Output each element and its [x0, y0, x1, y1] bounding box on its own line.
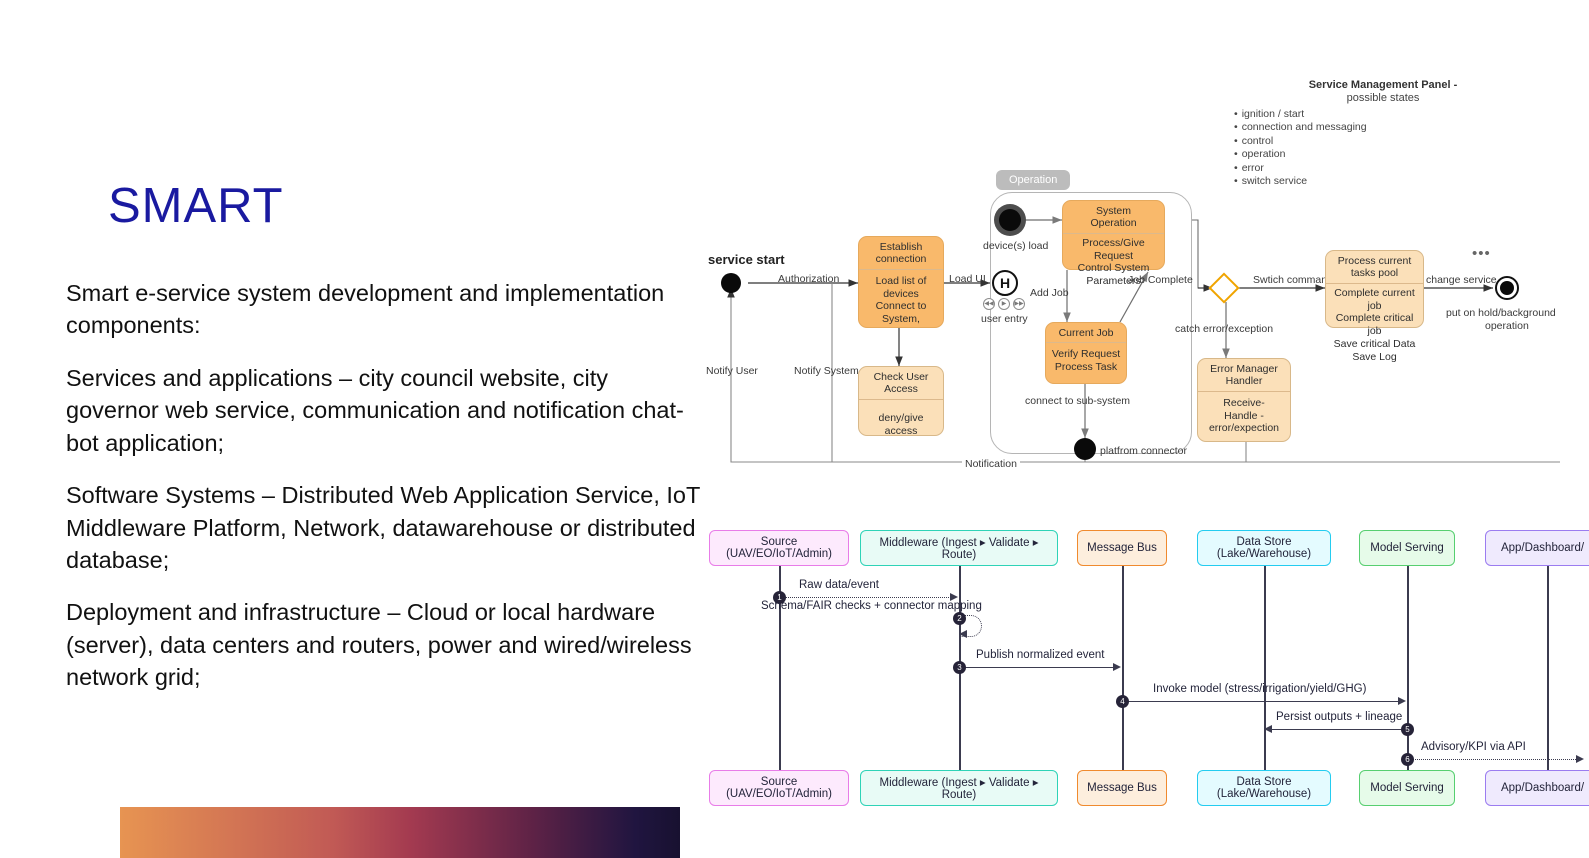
message-label-3: Publish normalized event: [976, 649, 1105, 661]
edge-label-notification: Notification: [962, 458, 1020, 470]
actor-model-serving-top[interactable]: Model Serving: [1359, 530, 1455, 566]
state-establish-body: Load list of devices Connect to System,: [859, 270, 943, 331]
edge-label-load-ui: Load UI: [949, 273, 986, 285]
edge-label-change-service: change service: [1426, 274, 1497, 286]
final-state-caption-1: put on hold/background: [1446, 307, 1556, 319]
message-label-1: Raw data/event: [799, 579, 879, 591]
composite-state-label: Operation: [996, 170, 1070, 190]
sequence-diagram: Source (UAV/EO/IoT/Admin) Middleware (In…: [700, 515, 1589, 835]
accent-gradient-bar: [120, 807, 680, 858]
state-diagram: Service Management Panel - possible stat…: [700, 70, 1589, 480]
state-pool-header: Process current tasks pool: [1326, 251, 1423, 283]
state-sysop-header: System Operation: [1063, 201, 1164, 233]
message-arrow-6: [1576, 755, 1584, 763]
message-line-4: [1122, 701, 1399, 702]
state-error-header: Error Manager Handler: [1198, 359, 1290, 391]
message-line-1: [779, 597, 951, 598]
actor-data-store-bottom[interactable]: Data Store (Lake/Warehouse): [1197, 770, 1331, 806]
lifeline-middleware: [959, 565, 961, 789]
service-start-label: service start: [708, 252, 785, 267]
initial-state-node: [721, 273, 741, 293]
history-pseudostate: H: [992, 270, 1018, 296]
edge-label-switch-command: Swtich command: [1253, 274, 1333, 286]
platform-connector-node: [1074, 438, 1096, 460]
message-line-5: [1264, 729, 1407, 730]
actor-middleware-top[interactable]: Middleware (Ingest ▸ Validate ▸ Route): [860, 530, 1058, 566]
message-arrow-4: [1398, 697, 1406, 705]
actor-model-serving-bottom[interactable]: Model Serving: [1359, 770, 1455, 806]
rewind-icon: ◀◀: [983, 298, 995, 310]
state-job-header: Current Job: [1046, 323, 1126, 342]
state-job-body: Verify Request Process Task: [1046, 343, 1126, 379]
actor-message-bus-bottom[interactable]: Message Bus: [1077, 770, 1167, 806]
state-pool-body: Complete current job Complete critical j…: [1326, 284, 1423, 367]
body-copy: Smart e-service system development and i…: [66, 277, 706, 714]
final-state-inner: [1500, 281, 1514, 295]
message-line-3: [959, 667, 1114, 668]
message-line-6: [1407, 759, 1582, 760]
message-number-6: 6: [1401, 753, 1414, 766]
state-check-header: Check User Access: [859, 367, 943, 399]
state-error-body: Receive- Handle - error/expection: [1198, 392, 1290, 440]
final-state-caption-2: operation: [1485, 320, 1529, 332]
state-check-user-access: Check User Access deny/give access: [858, 366, 944, 436]
state-process-tasks-pool: Process current tasks pool Complete curr…: [1325, 250, 1424, 328]
message-arrow-2: [959, 630, 967, 638]
edge-label-job-complete: Job Complete: [1128, 274, 1193, 286]
paragraph-4: Deployment and infrastructure – Cloud or…: [66, 596, 706, 693]
message-label-2: Schema/FAIR checks + connector mapping: [761, 600, 982, 612]
lifeline-app-dashboard: [1547, 565, 1549, 789]
state-system-operation: System Operation Process/Give Request Co…: [1062, 200, 1165, 270]
message-number-5: 5: [1401, 723, 1414, 736]
actor-middleware-bottom[interactable]: Middleware (Ingest ▸ Validate ▸ Route): [860, 770, 1058, 806]
message-number-3: 3: [953, 661, 966, 674]
message-number-2: 2: [953, 612, 966, 625]
actor-data-store-top[interactable]: Data Store (Lake/Warehouse): [1197, 530, 1331, 566]
edge-label-authorization: Authorization: [778, 273, 839, 285]
page-title: SMART: [108, 182, 284, 231]
edge-label-platform-connector: platfrom connector: [1100, 445, 1187, 457]
actor-app-dashboard-top[interactable]: App/Dashboard/: [1485, 530, 1589, 566]
message-arrow-5: [1264, 725, 1272, 733]
play-icon: ▶: [998, 298, 1010, 310]
edge-label-add-job: Add Job: [1030, 287, 1069, 299]
ellipsis-icon: •••: [1472, 245, 1491, 262]
paragraph-2: Services and applications – city council…: [66, 362, 706, 459]
message-label-4: Invoke model (stress/irrigation/yield/GH…: [1153, 683, 1366, 695]
actor-app-dashboard-bottom[interactable]: App/Dashboard/: [1485, 770, 1589, 806]
actor-source-top[interactable]: Source (UAV/EO/IoT/Admin): [709, 530, 849, 566]
final-state-node: [1495, 276, 1519, 300]
edge-label-connect-sub-system: connect to sub-system: [1025, 395, 1130, 407]
message-label-5: Persist outputs + lineage: [1276, 711, 1402, 723]
state-establish-connection: Establish connection Load list of device…: [858, 236, 944, 328]
paragraph-1: Smart e-service system development and i…: [66, 277, 706, 342]
message-label-6: Advisory/KPI via API: [1421, 741, 1526, 753]
message-number-4: 4: [1116, 695, 1129, 708]
edge-label-notify-system: Notify System: [794, 365, 859, 377]
edge-label-catch-error: catch error/exception: [1175, 323, 1273, 335]
state-error-manager-handler: Error Manager Handler Receive- Handle - …: [1197, 358, 1291, 442]
actor-source-bottom[interactable]: Source (UAV/EO/IoT/Admin): [709, 770, 849, 806]
edge-label-user-entry: user entry: [981, 313, 1028, 325]
edge-label-devices-load: device(s) load: [983, 240, 1048, 252]
state-check-body: deny/give access: [859, 400, 943, 443]
state-current-job: Current Job Verify Request Process Task: [1045, 322, 1127, 384]
state-establish-header: Establish connection: [859, 237, 943, 269]
lifeline-data-store: [1264, 565, 1266, 789]
lifeline-message-bus: [1122, 565, 1124, 789]
paragraph-3: Software Systems – Distributed Web Appli…: [66, 479, 706, 576]
fast-forward-icon: ▶▶: [1013, 298, 1025, 310]
message-arrow-3: [1113, 663, 1121, 671]
entry-point-devices-load: [999, 209, 1021, 231]
edge-label-notify-user: Notify User: [706, 365, 758, 377]
actor-message-bus-top[interactable]: Message Bus: [1077, 530, 1167, 566]
